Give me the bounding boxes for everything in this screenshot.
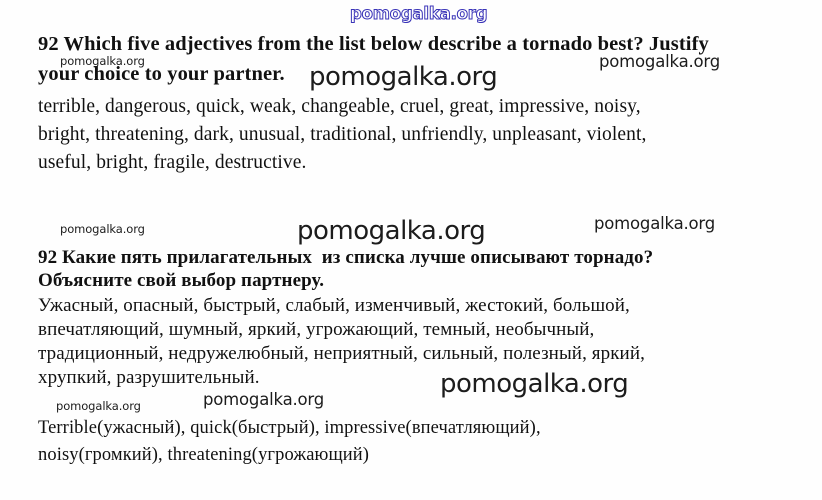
russian-adjectives-line-3: традиционный, недружелюбный, неприятный,… — [38, 342, 645, 367]
worksheet-page: 92 Which five adjectives from the list b… — [0, 0, 822, 500]
watermark-top-outline: pomogalka.org — [350, 4, 487, 23]
watermark-middle-center: pomogalka.org — [297, 216, 485, 246]
english-adjectives-line-2: bright, threatening, dark, unusual, trad… — [38, 121, 646, 149]
english-adjectives-line-1: terrible, dangerous, quick, weak, change… — [38, 93, 641, 121]
watermark-answer-center: pomogalka.org — [203, 390, 324, 409]
answer-line-2: noisy(громкий), threatening(угрожающий) — [38, 442, 369, 469]
english-adjectives-line-3: useful, bright, fragile, destructive. — [38, 149, 307, 177]
watermark-lower-center: pomogalka.org — [440, 369, 628, 399]
watermark-middle-left: pomogalka.org — [60, 222, 145, 236]
russian-question-heading-line2: Объясните свой выбор партнеру. — [38, 268, 324, 293]
answer-line-1: Terrible(ужасный), quick(быстрый), impre… — [38, 415, 541, 442]
russian-adjectives-line-1: Ужасный, опасный, быстрый, слабый, измен… — [38, 294, 630, 319]
watermark-middle-right: pomogalka.org — [594, 214, 715, 233]
russian-adjectives-line-2: впечатляющий, шумный, яркий, угрожающий,… — [38, 318, 594, 343]
watermark-after-partner: pomogalka.org — [309, 62, 497, 92]
english-question-heading-line1: 92 Which five adjectives from the list b… — [38, 31, 709, 58]
russian-question-heading-line1: 92 Какие пять прилагательных из списка л… — [38, 245, 653, 270]
russian-adjectives-line-4: хрупкий, разрушительный. — [38, 366, 260, 391]
watermark-answer-left: pomogalka.org — [56, 399, 141, 413]
english-question-heading-line2: your choice to your partner. — [38, 61, 285, 88]
